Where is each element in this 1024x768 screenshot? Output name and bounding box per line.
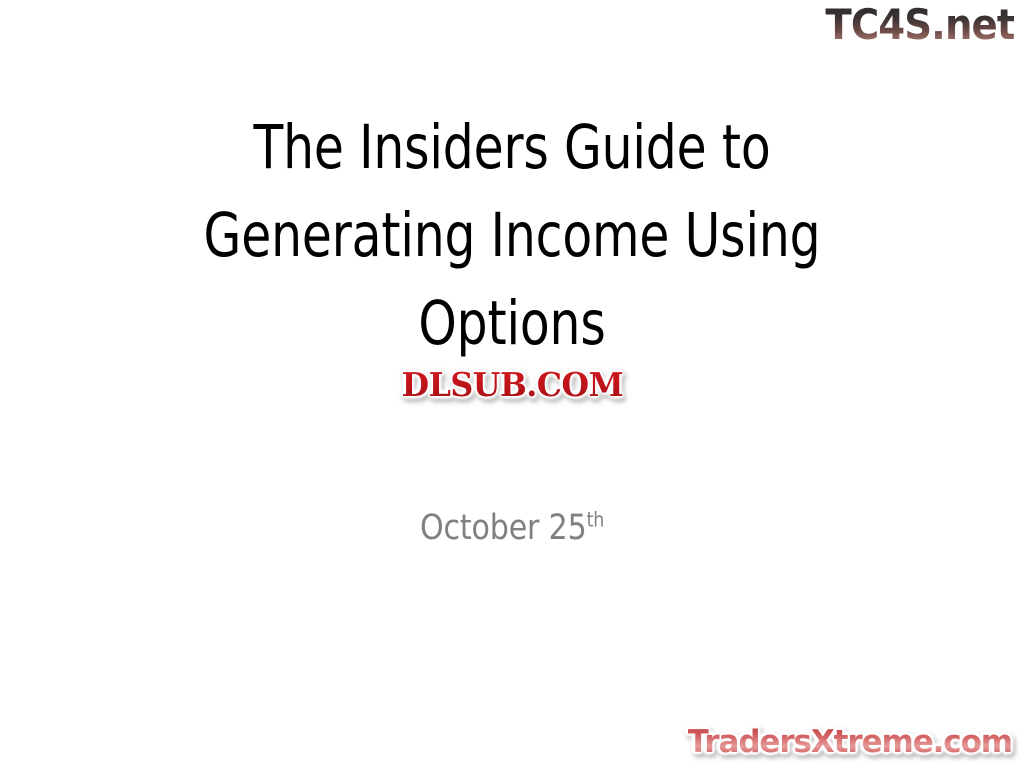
tc4s-logo-watermark: TC4S.net (825, 2, 1014, 48)
page-title: The Insiders Guide to Generating Income … (62, 104, 962, 368)
date-text: October 25th (420, 506, 604, 550)
title-line-1: The Insiders Guide to (152, 104, 872, 192)
tradersxtreme-watermark-label: TradersXtreme.com (688, 724, 1012, 760)
date-main: October 25 (420, 508, 587, 548)
title-line-2: Generating Income Using (152, 192, 872, 280)
title-slide: TC4S.net The Insiders Guide to Generatin… (0, 0, 1024, 768)
title-line-3: Options (152, 280, 872, 368)
tradersxtreme-watermark: TradersXtreme.com (688, 724, 1012, 760)
dlsub-watermark: DLSUB.COM (364, 364, 660, 404)
dlsub-watermark-label: DLSUB.COM (401, 368, 623, 401)
subtitle-date: October 25th (0, 506, 1024, 550)
date-ordinal-suffix: th (587, 507, 605, 531)
